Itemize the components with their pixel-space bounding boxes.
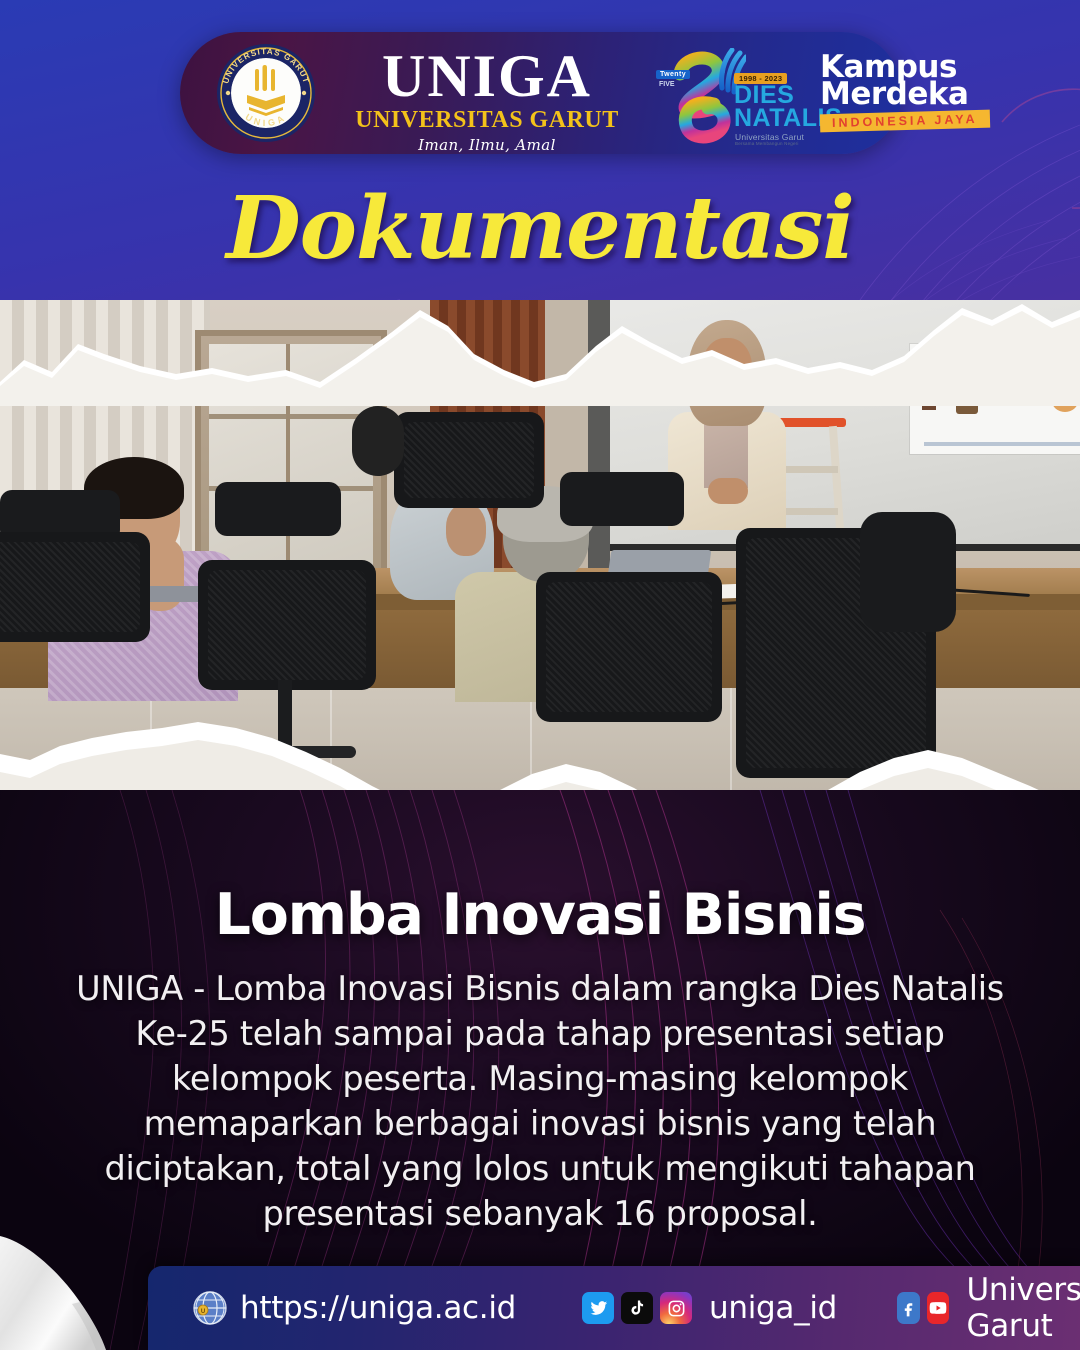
globe-icon: U <box>192 1290 228 1326</box>
page-curl-corner <box>0 1236 160 1350</box>
uniga-sub-text: UNIVERSITAS GARUT <box>332 107 642 133</box>
uniga-wordmark: UNIGA UNIVERSITAS GARUT Iman, Ilmu, Amal <box>332 46 642 154</box>
dies-tagline: Bersama Membangun Negeri <box>735 141 799 146</box>
page-title-script: Dokumentasi <box>0 178 1080 279</box>
dies-five-badge: FIVE <box>659 81 675 88</box>
footer-website-group[interactable]: U https://uniga.ac.id <box>192 1290 516 1326</box>
uniga-motto-text: Iman, Ilmu, Amal <box>332 136 642 154</box>
poster-root: UNIVERSITAS GARUT UNIGA UNIGA UNIVERSITA… <box>0 0 1080 1350</box>
dies-natalis-logo: Twenty FIVE 1998 - 2023 DIES NATALIS Uni… <box>654 44 814 144</box>
footer-contact-bar: U https://uniga.ac.id <box>148 1266 1080 1350</box>
footer-page-group[interactable]: Universitas Garut <box>897 1272 1080 1344</box>
dies-twenty-badge: Twenty <box>656 70 690 79</box>
presenter-woman-hijab <box>668 320 788 520</box>
svg-text:U: U <box>201 1309 205 1315</box>
facebook-icon[interactable] <box>897 1292 920 1324</box>
footer-social-label: uniga_id <box>709 1290 837 1326</box>
university-seal-icon: UNIVERSITAS GARUT UNIGA <box>216 43 316 143</box>
documentation-photo <box>0 300 1080 820</box>
footer-social-group[interactable]: uniga_id <box>582 1290 837 1326</box>
youtube-icon[interactable] <box>927 1292 950 1324</box>
header-logo-bar: UNIVERSITAS GARUT UNIGA UNIGA UNIVERSITA… <box>180 32 902 154</box>
slide-content <box>910 344 1080 454</box>
tiktok-icon[interactable] <box>621 1292 653 1324</box>
article-headline: Lomba Inovasi Bisnis <box>0 884 1080 946</box>
office-chair <box>0 532 150 642</box>
kampus-merdeka-line2: Merdeka <box>820 79 995 110</box>
footer-website-label: https://uniga.ac.id <box>240 1290 516 1326</box>
instagram-icon[interactable] <box>660 1292 692 1324</box>
uniga-main-text: UNIGA <box>332 46 642 106</box>
footer-page-label: Universitas Garut <box>966 1272 1080 1344</box>
kampus-merdeka-ribbon: INDONESIA JAYA <box>820 110 990 133</box>
article-body: UNIGA - Lomba Inovasi Bisnis dalam rangk… <box>58 966 1022 1236</box>
twitter-icon[interactable] <box>582 1292 614 1324</box>
kampus-merdeka-logo: Kampus Merdeka INDONESIA JAYA <box>820 52 995 140</box>
